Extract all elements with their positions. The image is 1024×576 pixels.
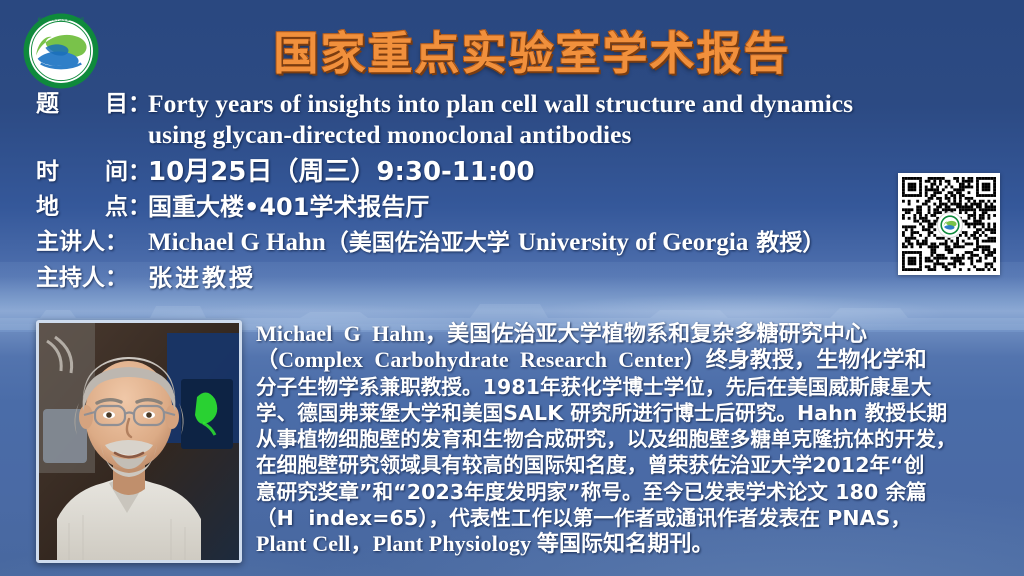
info-label-speaker: 主讲人： [36, 226, 148, 259]
info-row-place: 地 点： 国重大楼•401学术报告厅 [36, 191, 1016, 224]
info-row-time: 时 间： 10月25日（周三）9:30-11:00 [36, 156, 1016, 189]
bio-line: 意研究奖章”和“2023年度发明家”称号。至今已发表学术论文 180 余篇 [256, 479, 1012, 505]
bio-line: （Complex Carbohydrate Research Center）终身… [256, 347, 1012, 373]
info-value-speaker: Michael G Hahn（美国佐治亚大学 University of Geo… [148, 226, 1016, 260]
speaker-bio: Michael G Hahn，美国佐治亚大学植物系和复杂多糖研究中心 （Comp… [256, 321, 1012, 558]
speaker-portrait [36, 320, 242, 563]
info-label-host: 主持人： [36, 262, 148, 295]
info-row-speaker: 主讲人： Michael G Hahn（美国佐治亚大学 University o… [36, 226, 1016, 260]
bio-line: 在细胞壁研究领域具有较高的国际知名度，曾荣获佐治亚大学2012年“创 [256, 452, 1012, 478]
speaker-name: Michael G Hahn [148, 229, 326, 256]
topic-line-1: Forty years of insights into plan cell w… [148, 88, 1016, 119]
info-row-host: 主持人： 张进教授 [36, 262, 1016, 295]
info-label-time: 时 间： [36, 156, 148, 189]
speaker-affiliation-open: （美国佐治亚大学 [326, 230, 518, 256]
speaker-affiliation-close: 教授） [748, 230, 825, 256]
svg-text:STATE KEY LABORATORY: STATE KEY LABORATORY [45, 82, 78, 86]
bio-line: Plant Cell，Plant Physiology 等国际知名期刊。 [256, 531, 1012, 557]
qr-code[interactable] [898, 173, 1000, 275]
info-value-place: 国重大楼•401学术报告厅 [148, 191, 1016, 224]
info-value-topic: Forty years of insights into plan cell w… [148, 88, 1016, 150]
info-value-time: 10月25日（周三）9:30-11:00 [148, 156, 1016, 189]
qr-code-center-logo-icon [937, 212, 963, 238]
bio-line: 分子生物学系兼职教授。1981年获化学博士学位，先后在美国威斯康星大 [256, 374, 1012, 400]
seminar-info-block: 题 目： Forty years of insights into plan c… [36, 88, 1016, 297]
seminar-poster: 植物基因组学国家重点实验室 STATE KEY LABORATORY 国家重点实… [0, 0, 1024, 576]
info-value-host: 张进教授 [148, 262, 1016, 295]
info-label-place: 地 点： [36, 191, 148, 224]
bio-line: Michael G Hahn，美国佐治亚大学植物系和复杂多糖研究中心 [256, 321, 1012, 347]
speaker-portrait-image [39, 323, 239, 560]
speaker-affiliation-en: University of Georgia [518, 229, 749, 256]
info-row-topic: 题 目： Forty years of insights into plan c… [36, 88, 1016, 150]
bio-line: 从事植物细胞壁的发育和生物合成研究，以及细胞壁多糖单克隆抗体的开发， [256, 426, 1012, 452]
bio-line: 学、德国弗莱堡大学和美国SALK 研究所进行博士后研究。Hahn 教授长期 [256, 400, 1012, 426]
poster-main-title: 国家重点实验室学术报告 [0, 17, 1024, 82]
topic-line-2: using glycan-directed monoclonal antibod… [148, 119, 1016, 150]
bio-line: （H index=65），代表性工作以第一作者或通讯作者发表在 PNAS， [256, 505, 1012, 531]
info-label-topic: 题 目： [36, 88, 148, 121]
